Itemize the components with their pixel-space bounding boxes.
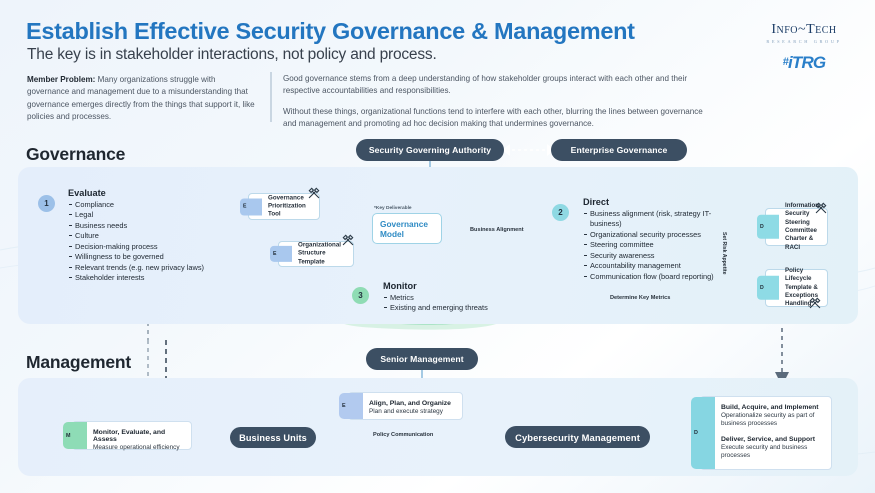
card-title: Build, Acquire, and Implement <box>721 404 826 411</box>
deliver-service-support-block: Deliver, Service, and Support Execute se… <box>721 436 826 461</box>
list-item: Willingness to be governed <box>68 252 218 263</box>
management-card-body: Monitor, Evaluate, and Assess Measure op… <box>93 429 186 452</box>
page-subtitle: The key is in stakeholder interactions, … <box>27 46 437 64</box>
pill-enterprise-governance[interactable]: Enterprise Governance <box>551 139 687 161</box>
pill-senior-management[interactable]: Senior Management <box>366 348 478 370</box>
card-subtitle: Measure operational efficiency <box>93 444 186 452</box>
infographic-page: Establish Effective Security Governance … <box>0 0 875 493</box>
member-problem-label: Member Problem: <box>27 75 95 84</box>
direct-list: Business alignment (risk, strategy IT-bu… <box>583 209 735 283</box>
list-item: Legal <box>68 210 218 221</box>
tools-icon <box>307 186 321 200</box>
brand-logo: Info~Tech RESEARCH GROUP #iTRG <box>748 22 860 73</box>
management-card-body: Build, Acquire, and Implement Operationa… <box>721 404 826 460</box>
management-section-heading: Management <box>26 352 131 373</box>
key-deliverable-note: *Key Deliverable <box>374 206 412 211</box>
deliverable-card-iss-committee-charter[interactable]: D Information Security Steering Committe… <box>765 208 828 246</box>
monitor-group: Monitor Metrics Existing and emerging th… <box>383 281 533 314</box>
tools-icon <box>808 296 822 310</box>
management-badge: D <box>691 397 715 469</box>
list-item: Culture <box>68 231 218 242</box>
evaluate-title: Evaluate <box>68 188 218 198</box>
label-business-alignment: Business Alignment <box>470 227 524 233</box>
management-badge: M <box>63 422 87 449</box>
header-divider <box>270 72 272 122</box>
direct-group: Direct Business alignment (risk, strateg… <box>583 197 735 282</box>
list-item: Business alignment (risk, strategy IT-bu… <box>583 209 735 230</box>
step-number-1: 1 <box>38 195 55 212</box>
tools-icon <box>341 233 355 247</box>
list-item: Metrics <box>383 293 533 304</box>
header-notes: Good governance stems from a deep unders… <box>283 73 703 130</box>
itrg-logo-text: iTRG <box>788 53 825 72</box>
management-card-body: Align, Plan, and Organize Plan and execu… <box>369 400 457 416</box>
label-policy-communication: Policy Communication <box>373 432 433 438</box>
build-acquire-implement-block: Build, Acquire, and Implement Operationa… <box>721 404 826 429</box>
list-item: Decision-making process <box>68 242 218 253</box>
governance-model-label: Governance Model <box>380 219 441 239</box>
deliverable-badge: D <box>757 215 779 239</box>
pill-security-governing-authority[interactable]: Security Governing Authority <box>356 139 504 161</box>
monitor-title: Monitor <box>383 281 533 291</box>
card-title: Monitor, Evaluate, and Assess <box>93 429 186 443</box>
card-subtitle: Operationalize security as part of busin… <box>721 412 826 429</box>
card-subtitle: Execute security and business processes <box>721 444 826 461</box>
pill-cybersecurity-management[interactable]: Cybersecurity Management <box>505 426 650 448</box>
management-card-align-plan-organize[interactable]: E Align, Plan, and Organize Plan and exe… <box>348 392 463 420</box>
info-tech-logo-subtext: RESEARCH GROUP <box>748 39 860 44</box>
pill-business-units[interactable]: Business Units <box>230 427 316 448</box>
list-item: Organizational security processes <box>583 230 735 241</box>
label-set-risk-appetite: Set Risk Appetite <box>721 232 727 274</box>
header-note-1: Good governance stems from a deep unders… <box>283 73 703 98</box>
card-title: Align, Plan, and Organize <box>369 400 457 407</box>
governance-model-card[interactable]: Governance Model <box>372 213 442 244</box>
monitor-list: Metrics Existing and emerging threats <box>383 293 533 314</box>
list-item: Security awareness <box>583 251 735 262</box>
list-item: Business needs <box>68 221 218 232</box>
step-number-3: 3 <box>352 287 369 304</box>
itrg-logo: #iTRG <box>748 53 860 73</box>
header-note-2: Without these things, organizational fun… <box>283 106 703 131</box>
tools-icon <box>814 201 828 215</box>
deliverable-badge: D <box>757 276 779 300</box>
list-item: Relevant trends (e.g. new privacy laws) <box>68 263 218 274</box>
deliverable-badge: E <box>240 198 262 215</box>
evaluate-list: Compliance Legal Business needs Culture … <box>68 200 218 284</box>
management-badge: E <box>339 393 363 419</box>
deliverable-badge: E <box>270 246 292 262</box>
card-title: Deliver, Service, and Support <box>721 436 826 443</box>
management-card-build-deliver[interactable]: D Build, Acquire, and Implement Operatio… <box>700 396 832 470</box>
member-problem-block: Member Problem: Many organizations strug… <box>27 74 255 123</box>
page-title: Establish Effective Security Governance … <box>26 18 635 45</box>
step-number-2: 2 <box>552 204 569 221</box>
list-item: Stakeholder interests <box>68 273 218 284</box>
deliverable-card-governance-prioritization-tool[interactable]: E Governance Prioritization Tool <box>248 193 320 220</box>
label-determine-key-metrics: Determine Key Metrics <box>610 295 670 301</box>
card-subtitle: Plan and execute strategy <box>369 408 457 416</box>
evaluate-group: Evaluate Compliance Legal Business needs… <box>68 188 218 284</box>
list-item: Existing and emerging threats <box>383 303 533 314</box>
info-tech-logo-text: Info~Tech <box>748 22 860 38</box>
management-card-monitor-evaluate-assess[interactable]: M Monitor, Evaluate, and Assess Measure … <box>72 421 192 450</box>
list-item: Compliance <box>68 200 218 211</box>
governance-section-heading: Governance <box>26 144 125 165</box>
list-item: Communication flow (board reporting) <box>583 272 735 283</box>
list-item: Accountability management <box>583 261 735 272</box>
deliverable-card-organizational-structure-template[interactable]: E Organizational Structure Template <box>278 241 354 267</box>
deliverable-card-policy-lifecycle-template[interactable]: D Policy Lifecycle Template & Exceptions… <box>765 269 828 307</box>
list-item: Steering committee <box>583 240 735 251</box>
pill-link-dotted <box>502 144 555 156</box>
direct-title: Direct <box>583 197 735 207</box>
